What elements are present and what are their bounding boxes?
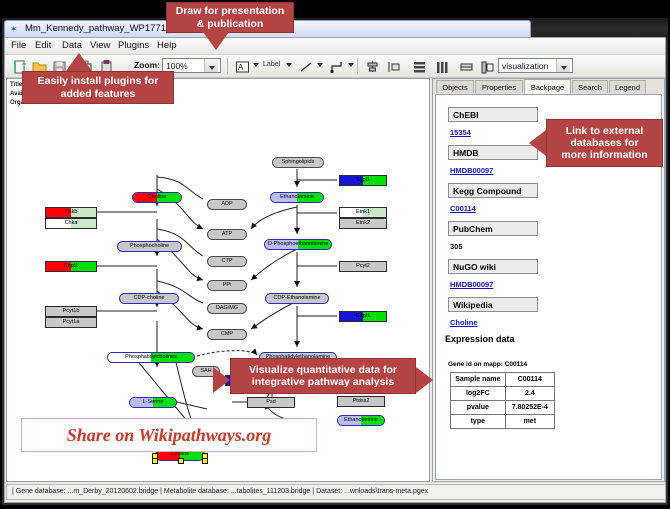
status-bar: | Gene database: ...m_Derby_20120602.bri… (6, 484, 666, 500)
expression-table: Sample name C00114 log2FC 2.4 pvalue 7.8… (450, 372, 555, 429)
node-label: Phosphatidylcholines (123, 355, 179, 361)
metabolite-node-o-phosphoethanolamine[interactable]: O-Phosphoethanolamine (264, 239, 332, 250)
expression-data-title: Expression data (445, 334, 515, 344)
metabolite-node-cmp[interactable]: CMP (207, 329, 247, 340)
gene-node-etnk1[interactable]: Etnk1 (339, 207, 387, 218)
metabolite-node-atp[interactable]: ATP (207, 229, 247, 240)
menu-bar: File Edit Data View Plugins Help (5, 38, 665, 55)
share-on-wikipathways-text: Share on Wikipathways.org (67, 425, 272, 446)
gene-node-pcyt1b[interactable]: Pcyt1b (45, 306, 97, 317)
db-header-nugowiki: NuGO wiki (448, 259, 538, 274)
menu-item-view[interactable]: View (90, 40, 110, 51)
node-label: Ethanolamine (278, 195, 316, 201)
align-icon[interactable] (363, 58, 382, 76)
tab-search[interactable]: Search (572, 80, 608, 93)
gene-node-psd[interactable]: Psd (247, 397, 295, 408)
gene-node-sgpl1[interactable]: Sgpl1 (339, 175, 387, 186)
callout-draw-arrow-icon (203, 32, 229, 50)
callout-plugins-arrow-icon (66, 53, 92, 71)
group-icon[interactable] (457, 58, 476, 76)
svg-text:A: A (238, 63, 244, 72)
gene-node-cept1[interactable]: Cept1 (339, 311, 387, 322)
db-link-kegg[interactable]: C00114 (450, 204, 476, 213)
menu-item-edit[interactable]: Edit (35, 40, 51, 51)
visualization-value: visualization (502, 61, 548, 71)
line-icon[interactable] (297, 58, 316, 76)
tab-legend[interactable]: Legend (609, 80, 646, 93)
metabolite-node-cdp-choline[interactable]: CDP-choline (119, 293, 179, 304)
node-label: DAG/MG (214, 306, 240, 312)
node-label: Choline (169, 452, 192, 458)
toolbar-separator (227, 58, 228, 74)
selection-handle[interactable] (202, 458, 208, 464)
order-icon[interactable] (478, 58, 497, 76)
metabolite-node-sphingolipids[interactable]: Sphingolipids (272, 157, 324, 168)
node-label: Cept1 (354, 314, 373, 320)
callout-easily-install-plugins: Easily install plugins for added feature… (22, 71, 174, 104)
connector-icon[interactable] (327, 58, 346, 76)
visualization-combo[interactable]: visualization (498, 58, 573, 73)
screenshot-root: ✶ Mm_Kennedy_pathway_WP1771_45176.gpml F… (0, 0, 670, 509)
cell-key: log2FC (451, 387, 506, 401)
pathvisio-icon: ✶ (10, 24, 21, 35)
node-label: Sphingolipids (280, 160, 317, 166)
gene-node-pcyt2[interactable]: Pcyt2 (339, 261, 387, 272)
gene-node-pcyt1a[interactable]: Pcyt1a (45, 317, 97, 328)
metabolite-node-dag-mg[interactable]: DAG/MG (207, 303, 247, 314)
menu-item-data[interactable]: Data (62, 40, 82, 51)
node-label: Phosphocholine (128, 244, 171, 250)
cell-key: pvalue (451, 401, 506, 415)
line-dropdown-icon[interactable] (317, 63, 323, 67)
zoom-label: Zoom: (134, 60, 160, 70)
node-label: Pcyt2 (354, 264, 372, 270)
text-label-icon[interactable]: A (233, 58, 252, 76)
node-label: SAH (198, 369, 213, 375)
chevron-down-icon[interactable] (204, 59, 218, 72)
node-label: O-Phosphoethanolamine (266, 242, 331, 248)
callout-visualize-arrow-icon (213, 367, 230, 393)
spacing-icon[interactable] (433, 58, 452, 76)
cell-value: 2.4 (505, 387, 554, 401)
label-dropdown-icon[interactable] (286, 63, 292, 67)
cell-key: type (451, 415, 506, 429)
metabolite-node-ethanolamine[interactable]: Ethanolamine (337, 415, 385, 426)
tab-backpage[interactable]: Backpage (524, 79, 571, 94)
text-label-dropdown-icon[interactable] (253, 63, 259, 67)
metabolite-node-phosphatidylcholines[interactable]: Phosphatidylcholines (107, 352, 195, 363)
metabolite-node-l-serine[interactable]: L-Serine (129, 397, 177, 408)
db-header-chebi: ChEBI (448, 107, 538, 122)
db-link-hmdb[interactable]: HMDB00097 (450, 166, 493, 175)
metabolite-node-ethanolamine[interactable]: Ethanolamine (270, 192, 324, 203)
db-link-wikipedia[interactable]: Choline (450, 318, 478, 327)
node-label: L-Serine (141, 400, 166, 406)
callout-visualize-quantitative-data: Visualize quantitative data for integrat… (230, 358, 416, 394)
db-value-pubchem: 305 (450, 242, 463, 251)
callout-visualize-arrow-right-icon (416, 367, 433, 393)
metabolite-node-choline[interactable]: Choline (132, 192, 182, 203)
node-label: Pcyt1b (61, 309, 82, 315)
node-label: Sgpl1 (354, 178, 372, 184)
selection-handle[interactable] (152, 458, 158, 464)
zoom-value: 100% (166, 61, 188, 71)
node-label: Chpt1 (62, 264, 81, 270)
gene-node-etnk2[interactable]: Etnk2 (339, 218, 387, 229)
db-header-hmdb: HMDB (448, 145, 538, 160)
metabolite-node-ppi[interactable]: PPi (207, 280, 247, 291)
tab-objects[interactable]: Objects (436, 80, 474, 93)
gene-node-chka[interactable]: Chka (45, 218, 97, 229)
side-panel-tabs: Objects Properties Backpage Search Legen… (433, 79, 664, 94)
db-link-nugowiki[interactable]: HMDB00097 (450, 280, 493, 289)
node-label: Psd (264, 400, 277, 406)
cell-key: Sample name (451, 373, 506, 387)
callout-share-box: Share on Wikipathways.org (21, 418, 317, 452)
toolbar-separator-2 (357, 58, 358, 74)
node-label: Etnk1 (354, 210, 372, 216)
visualization-chevron-down-icon[interactable] (556, 59, 570, 72)
table-row: log2FC 2.4 (451, 387, 555, 401)
connector-dropdown-icon[interactable] (348, 63, 354, 67)
metabolite-node-phosphocholine[interactable]: Phosphocholine (117, 241, 182, 252)
node-label: Chkb (63, 210, 80, 216)
table-row: type met (451, 415, 555, 429)
node-label: PPi (221, 283, 234, 289)
callout-link-arrow-icon (529, 130, 546, 156)
metabolite-node-adp[interactable]: ADP (207, 199, 247, 210)
metabolite-node-ctp[interactable]: CTP (207, 256, 247, 267)
node-label: CTP (220, 259, 235, 265)
title-bar: ✶ Mm_Kennedy_pathway_WP1771_45176.gpml (2, 18, 668, 38)
menu-item-file[interactable]: File (11, 40, 26, 51)
db-link-chebi[interactable]: 15354 (450, 128, 471, 137)
db-header-kegg: Kegg Compound (448, 183, 538, 198)
node-label: CDP-Ethanolamine (271, 296, 322, 302)
gene-node-ptdss2[interactable]: Ptdss2 (337, 396, 385, 407)
stack-icon[interactable] (410, 58, 429, 76)
cell-value: C00114 (505, 373, 554, 387)
gene-id-on-mapp: Gene id on mapp: C00114 (448, 361, 527, 368)
menu-item-plugins[interactable]: Plugins (118, 40, 149, 51)
status-bar-text: | Gene database: ...m_Derby_20120602.bri… (12, 488, 428, 495)
callout-draw-for-presentation: Draw for presentation & publication (166, 2, 294, 33)
node-label: ADP (219, 202, 234, 208)
selection-handle[interactable] (178, 458, 184, 464)
distribute-icon[interactable] (385, 58, 404, 76)
label-tool-text[interactable]: Label (263, 61, 280, 68)
db-header-pubchem: PubChem (448, 221, 538, 236)
menu-item-help[interactable]: Help (157, 40, 177, 51)
node-label: Choline (146, 195, 169, 201)
cell-value: met (505, 415, 554, 429)
node-label: CMP (219, 332, 235, 338)
gene-node-chkb[interactable]: Chkb (45, 207, 97, 218)
tab-properties[interactable]: Properties (475, 80, 523, 93)
gene-node-chpt1[interactable]: Chpt1 (45, 261, 97, 272)
callout-link-to-external-databases: Link to external databases for more info… (546, 119, 663, 167)
metabolite-node-cdp-ethanolamine[interactable]: CDP-Ethanolamine (265, 293, 329, 304)
db-header-wikipedia: Wikipedia (448, 297, 538, 312)
node-label: ATP (220, 232, 234, 238)
table-row: Sample name C00114 (451, 373, 555, 387)
node-label: CDP-choline (132, 296, 167, 302)
node-label: Ethanolamine (342, 418, 380, 424)
node-label: Etnk2 (354, 221, 372, 227)
node-label: Ptdss2 (351, 399, 372, 405)
table-row: pvalue 7.80252E-4 (451, 401, 555, 415)
node-label: Pcyt1a (61, 320, 82, 326)
node-label: Chka (63, 221, 80, 227)
cell-value: 7.80252E-4 (505, 401, 554, 415)
